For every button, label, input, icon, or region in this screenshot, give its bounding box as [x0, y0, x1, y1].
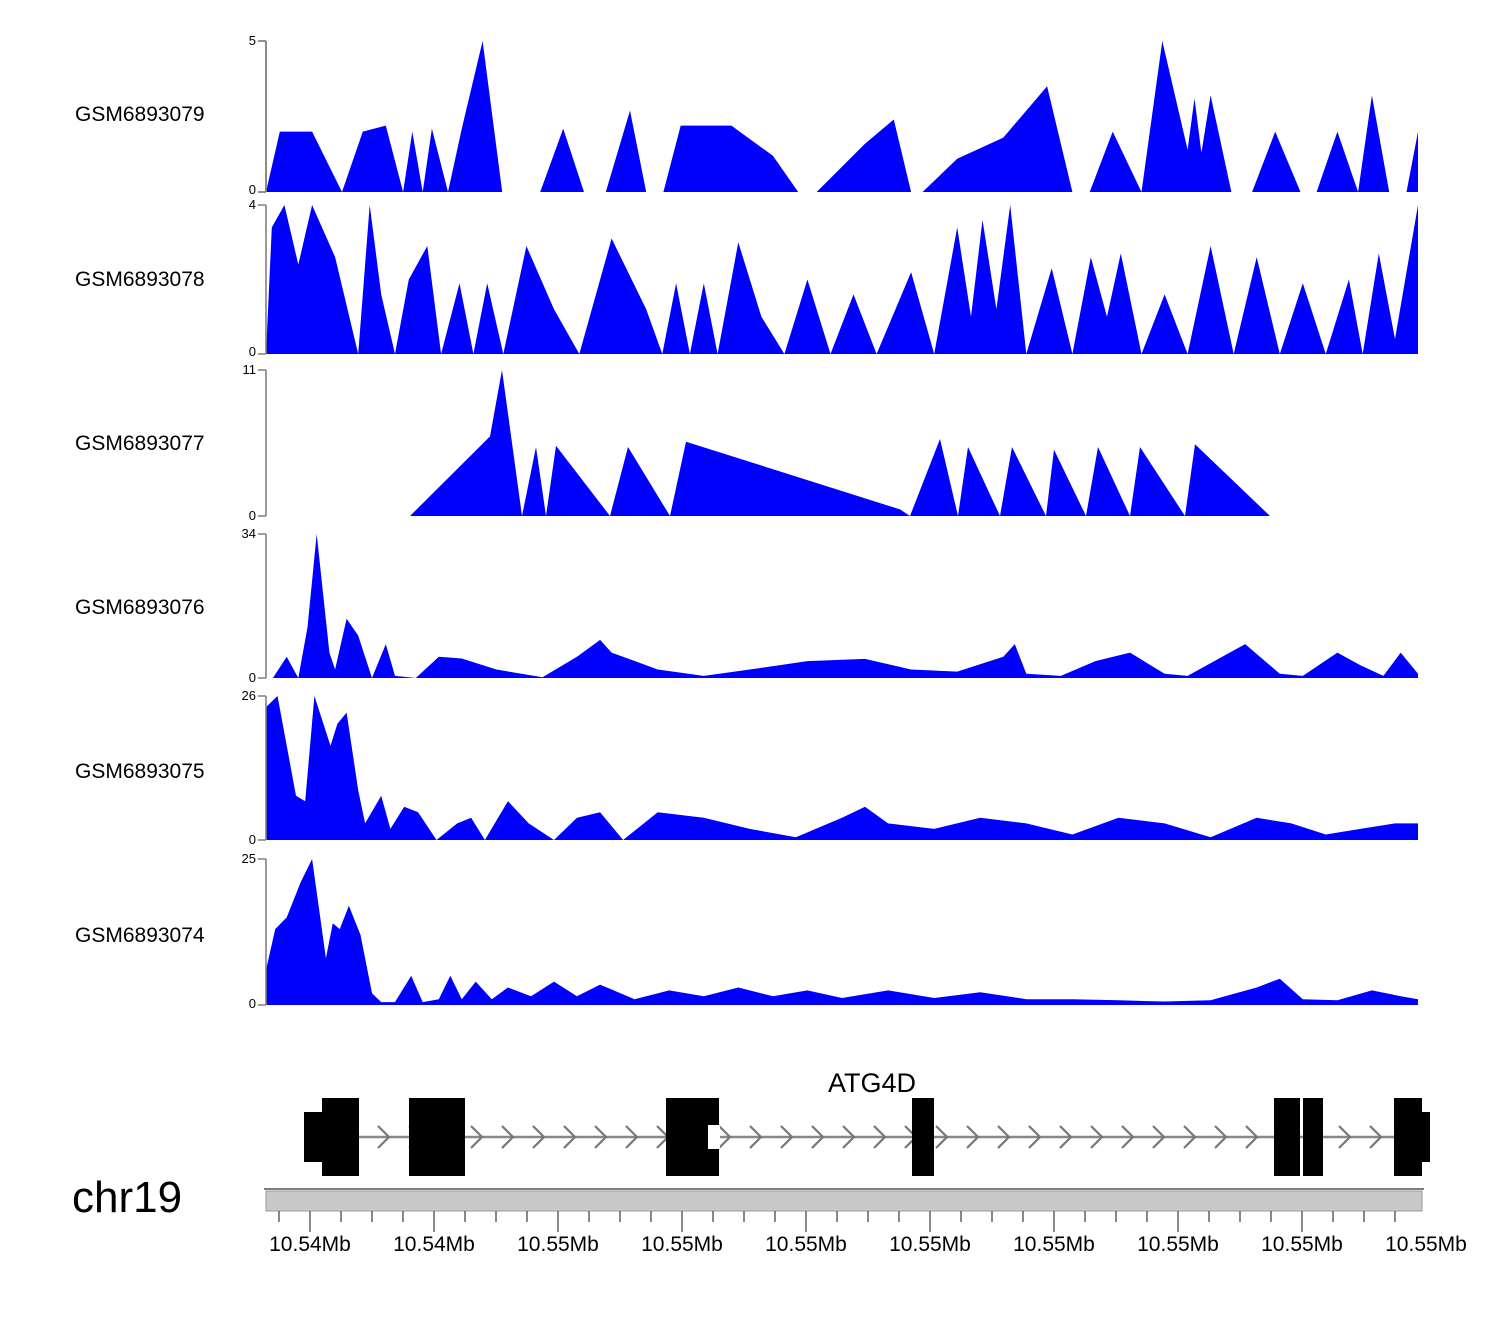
axis-tick-label-1: 10.54Mb [393, 1233, 475, 1257]
axis-tick-label-6: 10.55Mb [1013, 1233, 1095, 1257]
axis-tick-label-8: 10.55Mb [1261, 1233, 1343, 1257]
genome-axis [0, 0, 1500, 1320]
axis-tick-label-2: 10.55Mb [517, 1233, 599, 1257]
genome-browser-view: GSM6893079 5 0 GSM6893078 4 0 GSM6893077… [0, 0, 1500, 1320]
axis-tick-label-5: 10.55Mb [889, 1233, 971, 1257]
axis-tick-label-9: 10.55Mb [1385, 1233, 1467, 1257]
ideogram-bar [266, 1191, 1422, 1211]
axis-tick-label-3: 10.55Mb [641, 1233, 723, 1257]
axis-tick-label-0: 10.54Mb [269, 1233, 351, 1257]
axis-tick-label-4: 10.55Mb [765, 1233, 847, 1257]
axis-tick-label-7: 10.55Mb [1137, 1233, 1219, 1257]
